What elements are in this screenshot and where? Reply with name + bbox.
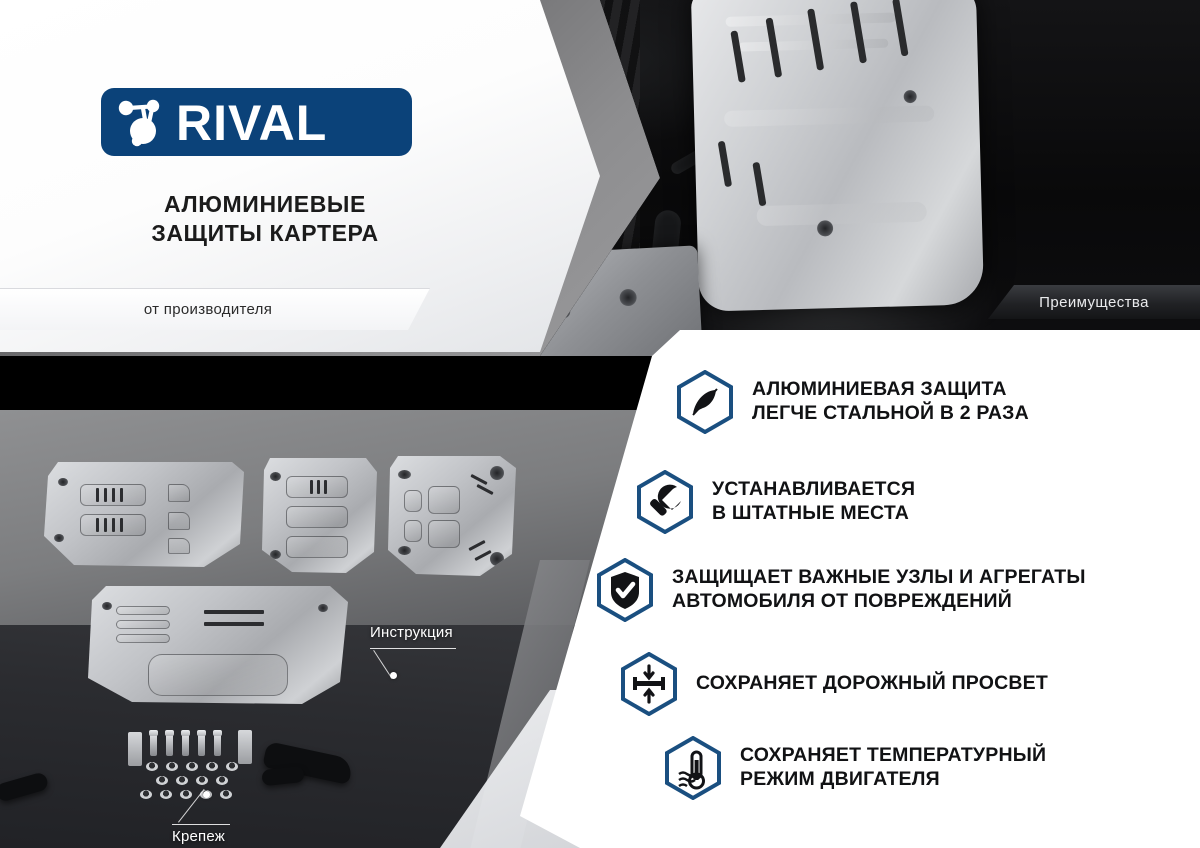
feature-item-3: ЗАЩИЩАЕТ ВАЖНЫЕ УЗЛЫ И АГРЕГАТЫ АВТОМОБИ…: [596, 558, 1086, 622]
washer: [140, 790, 152, 799]
hero-card-content: RIVAL АЛЮМИНИЕВЫЕ ЗАЩИТЫ КАРТЕРА от прои…: [0, 0, 566, 332]
bolt: [166, 734, 173, 756]
promo-banner: RIVAL АЛЮМИНИЕВЫЕ ЗАЩИТЫ КАРТЕРА от прои…: [0, 0, 1200, 848]
bolt-head: [149, 730, 158, 736]
hero-title-line-2: ЗАЩИТЫ КАРТЕРА: [0, 219, 530, 248]
bolt-head: [165, 730, 174, 736]
feature-item-2-text: УСТАНАВЛИВАЕТСЯ В ШТАТНЫЕ МЕСТА: [712, 478, 915, 526]
washer: [196, 776, 208, 785]
molecule-logo-icon: [117, 97, 171, 147]
mount-strip-left: [128, 732, 142, 766]
washer: [186, 762, 198, 771]
bolt: [198, 734, 205, 756]
hero-title-line-1: АЛЮМИНИЕВЫЕ: [0, 190, 530, 219]
thermometer-icon: [664, 736, 722, 800]
callout-hardware-dot: [203, 791, 210, 798]
hero-subtitle: от производителя: [144, 301, 286, 318]
advantages-tab-label: Преимущества: [1039, 294, 1149, 311]
installed-skid-plate: [691, 0, 984, 312]
feature-item-3-text: ЗАЩИЩАЕТ ВАЖНЫЕ УЗЛЫ И АГРЕГАТЫ АВТОМОБИ…: [672, 566, 1086, 614]
divider-band: [0, 356, 660, 410]
wrench-icon: [636, 470, 694, 534]
feature-item-5-text: СОХРАНЯЕТ ТЕМПЕРАТУРНЫЙ РЕЖИМ ДВИГАТЕЛЯ: [740, 744, 1046, 792]
logo-wordmark: RIVAL: [176, 94, 327, 152]
feature-item-5: СОХРАНЯЕТ ТЕМПЕРАТУРНЫЙ РЕЖИМ ДВИГАТЕЛЯ: [664, 736, 1046, 800]
washer: [176, 776, 188, 785]
skid-plate-1: [44, 462, 244, 567]
rival-logo[interactable]: RIVAL: [101, 88, 412, 156]
feature-item-4: СОХРАНЯЕТ ДОРОЖНЫЙ ПРОСВЕТ: [620, 652, 1048, 716]
callout-hardware: Крепеж: [172, 828, 225, 845]
washer: [220, 790, 232, 799]
washer: [146, 762, 158, 771]
washer: [226, 762, 238, 771]
bolt-head: [213, 730, 222, 736]
skid-plate-2: [262, 458, 377, 573]
washer: [180, 790, 192, 799]
skid-plate-4: [88, 586, 348, 704]
advantages-tab[interactable]: Преимущества: [988, 285, 1200, 319]
callout-instruction-label: Инструкция: [370, 624, 453, 641]
feather-icon: [676, 370, 734, 434]
feature-item-1: АЛЮМИНИЕВАЯ ЗАЩИТА ЛЕГЧЕ СТАЛЬНОЙ В 2 РА…: [676, 370, 1029, 434]
feature-item-4-text: СОХРАНЯЕТ ДОРОЖНЫЙ ПРОСВЕТ: [696, 672, 1048, 696]
ground-clearance-icon: [620, 652, 678, 716]
washer: [206, 762, 218, 771]
callout-instruction-rule: [370, 648, 456, 649]
washer: [216, 776, 228, 785]
shield-check-icon: [596, 558, 654, 622]
feature-item-2: УСТАНАВЛИВАЕТСЯ В ШТАТНЫЕ МЕСТА: [636, 470, 915, 534]
callout-hardware-rule: [172, 824, 230, 825]
callout-instruction-dot: [390, 672, 397, 679]
feature-item-1-text: АЛЮМИНИЕВАЯ ЗАЩИТА ЛЕГЧЕ СТАЛЬНОЙ В 2 РА…: [752, 378, 1029, 426]
bolt-head: [197, 730, 206, 736]
callout-hardware-label: Крепеж: [172, 828, 225, 845]
bolt-head: [181, 730, 190, 736]
hero-subtitle-strip: от производителя: [0, 288, 430, 330]
bolt: [150, 734, 157, 756]
washer: [166, 762, 178, 771]
washer: [160, 790, 172, 799]
skid-plate-3: [388, 456, 516, 576]
callout-instruction: Инструкция: [370, 624, 453, 641]
washer: [156, 776, 168, 785]
bolt: [214, 734, 221, 756]
bolt: [182, 734, 189, 756]
mount-strip-right: [238, 730, 252, 764]
page-title: АЛЮМИНИЕВЫЕ ЗАЩИТЫ КАРТЕРА: [0, 190, 530, 249]
